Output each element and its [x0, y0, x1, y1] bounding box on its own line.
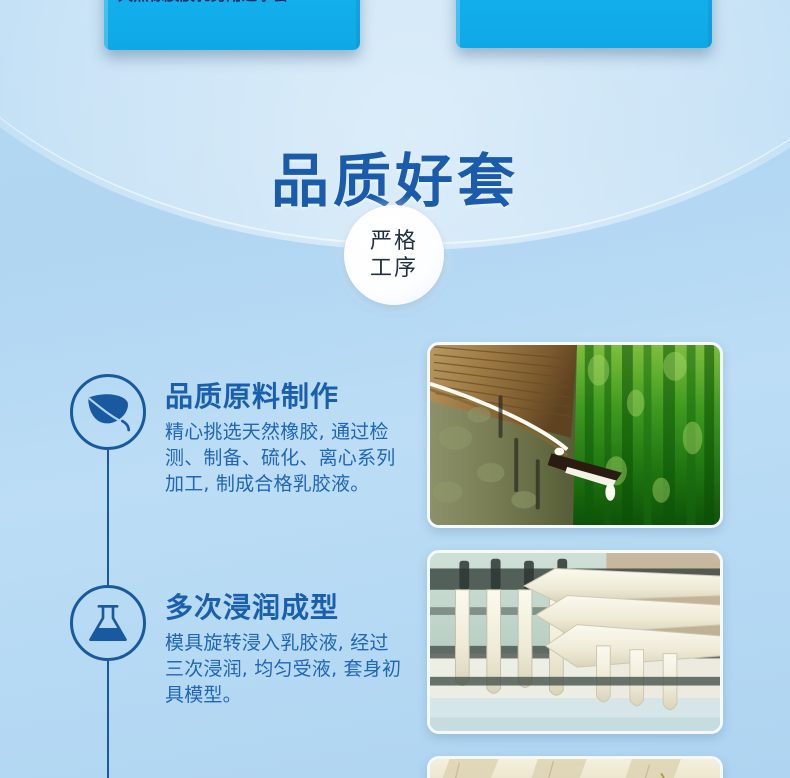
strict-process-badge: 严格 工序: [344, 205, 444, 305]
feature-connector-line: [107, 450, 109, 586]
feature-body: 模具旋转浸入乳胶液, 经过三次浸润, 均匀受液, 套身初具模型。: [165, 630, 405, 709]
product-box-right: 监制: 产品名称: 天然橡胶胶乳男用避孕套 产品标准编号: GB/T 7544 …: [456, 0, 712, 48]
feature-body: 精心挑选天然橡胶, 通过检测、制备、硫化、离心系列加工, 制成合格乳胶液。: [165, 419, 405, 498]
flask-icon: [70, 585, 146, 661]
dipping-line-photo: [427, 550, 723, 734]
feature-title: 多次浸润成型: [165, 593, 405, 624]
feature-title: 品质原料制作: [165, 382, 405, 413]
product-box-left: 10 只装 天然橡胶胶乳男用避孕套 光 面 型: [104, 0, 360, 50]
rubber-tree-tapping-photo: [427, 342, 723, 528]
badge-line-1: 严格: [370, 228, 418, 256]
product-detail-page: 10 只装 天然橡胶胶乳男用避孕套 光 面 型 监制: 产品名称: 天然橡胶胶乳…: [0, 0, 790, 778]
badge-line-2: 工序: [370, 255, 418, 283]
latex-sheets-photo: [427, 756, 723, 778]
product-name-subtitle: 天然橡胶胶乳男用避孕套: [118, 0, 289, 5]
leaf-icon: [70, 374, 146, 450]
feature-connector-line: [107, 661, 109, 778]
